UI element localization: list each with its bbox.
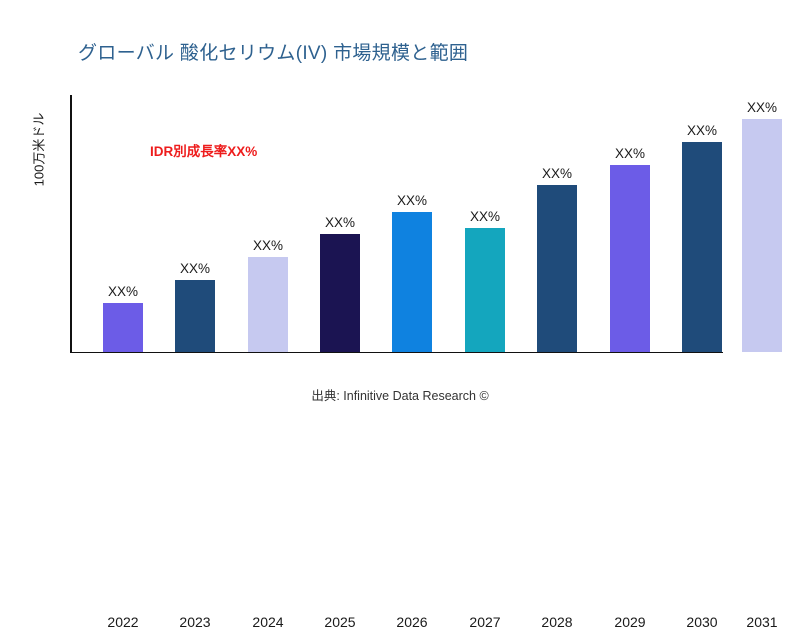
bar-2027[interactable]	[465, 228, 505, 352]
bar-2023[interactable]	[175, 280, 215, 352]
growth-rate-annotation: IDR別成長率XX%	[150, 140, 257, 160]
x-tick-label-2026: 2026	[378, 614, 446, 630]
bar-value-2023: XX%	[163, 261, 227, 276]
y-axis-line	[70, 95, 72, 353]
x-tick-label-2024: 2024	[234, 614, 302, 630]
bar-2031[interactable]	[742, 119, 782, 352]
bar-2025[interactable]	[320, 234, 360, 352]
bar-2029[interactable]	[610, 165, 650, 352]
bar-value-2027: XX%	[453, 209, 517, 224]
bar-value-2022: XX%	[91, 284, 155, 299]
bar-2022[interactable]	[103, 303, 143, 352]
bar-value-2026: XX%	[380, 193, 444, 208]
bar-2028[interactable]	[537, 185, 577, 352]
x-tick-label-2030: 2030	[668, 614, 736, 630]
chart-title: グローバル 酸化セリウム(IV) 市場規模と範囲	[78, 38, 468, 65]
x-tick-label-2023: 2023	[161, 614, 229, 630]
bar-value-2024: XX%	[236, 238, 300, 253]
x-tick-label-2031: 2031	[728, 614, 796, 630]
x-axis-line	[70, 352, 723, 354]
bar-value-2030: XX%	[670, 123, 734, 138]
x-tick-label-2029: 2029	[596, 614, 664, 630]
bar-2024[interactable]	[248, 257, 288, 352]
x-tick-label-2025: 2025	[306, 614, 374, 630]
x-tick-label-2028: 2028	[523, 614, 591, 630]
y-axis-label: 100万米ドル	[29, 90, 48, 210]
bar-2030[interactable]	[682, 142, 722, 352]
bar-2026[interactable]	[392, 212, 432, 352]
bar-chart-figure: グローバル 酸化セリウム(IV) 市場規模と範囲 100万米ドル IDR別成長率…	[0, 0, 800, 450]
x-tick-label-2027: 2027	[451, 614, 519, 630]
bar-value-2029: XX%	[598, 146, 662, 161]
bar-value-2028: XX%	[525, 166, 589, 181]
bar-value-2025: XX%	[308, 215, 372, 230]
x-tick-label-2022: 2022	[89, 614, 157, 630]
plot-area: IDR別成長率XX% XX% 2022 XX% 2023 XX% 2024 XX…	[70, 95, 780, 353]
bar-value-2031: XX%	[730, 100, 794, 115]
source-caption: 出典: Infinitive Data Research ©	[0, 385, 800, 404]
